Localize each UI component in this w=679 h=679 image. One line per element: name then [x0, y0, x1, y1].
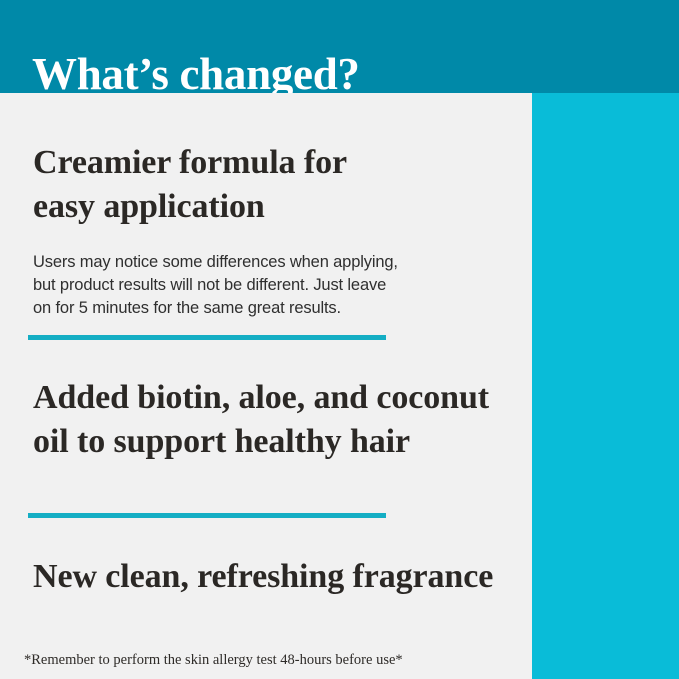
- divider-rule: [28, 513, 386, 518]
- section-body: Users may notice some differences when a…: [33, 251, 398, 320]
- header-band: What’s changed?: [0, 0, 679, 93]
- divider-rule: [28, 335, 386, 340]
- infographic-card: What’s changed? Creamier formula for eas…: [0, 0, 679, 679]
- section-added-ingredients: Added biotin, aloe, and coconut oil to s…: [33, 376, 489, 464]
- section-heading: Added biotin, aloe, and coconut oil to s…: [33, 376, 489, 464]
- section-creamier-formula: Creamier formula for easy application Us…: [33, 141, 398, 320]
- section-heading: New clean, refreshing fragrance: [33, 555, 493, 599]
- section-heading: Creamier formula for easy application: [33, 141, 398, 229]
- section-new-fragrance: New clean, refreshing fragrance: [33, 555, 493, 599]
- content-column: Creamier formula for easy application Us…: [0, 93, 532, 679]
- footnote-allergy-test: *Remember to perform the skin allergy te…: [24, 651, 403, 670]
- accent-panel-right: [532, 93, 679, 679]
